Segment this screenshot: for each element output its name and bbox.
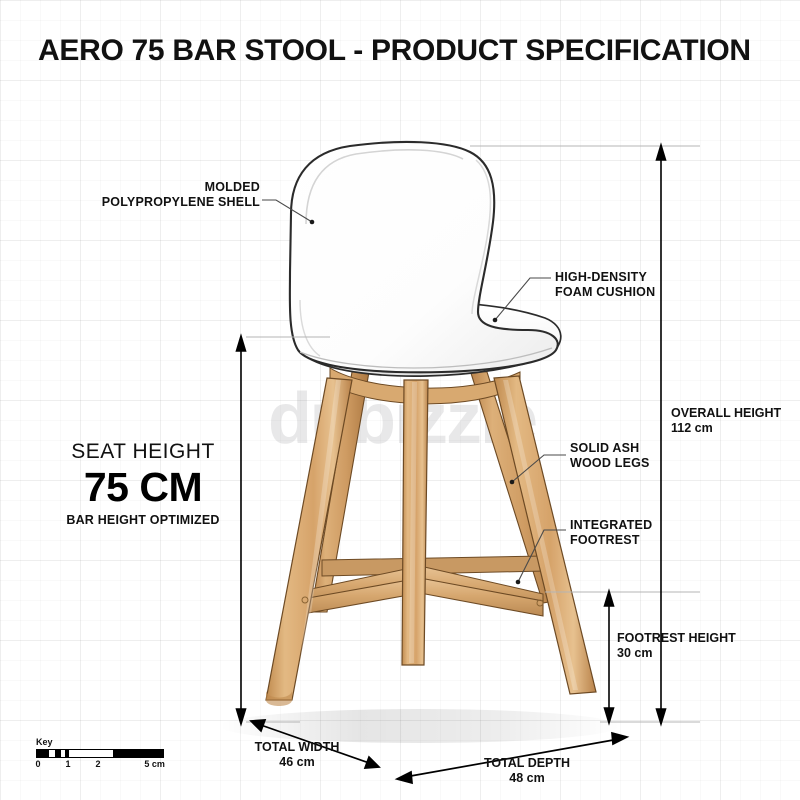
dimension-footrest-height-label: FOOTREST HEIGHT (617, 631, 736, 646)
dimension-total-depth: TOTAL DEPTH 48 cm (457, 756, 597, 786)
scale-key-ticks: 0 1 2 5 cm (36, 759, 164, 771)
scale-seg-1 (37, 750, 49, 757)
annotation-footrest-line2: FOOTREST (570, 533, 652, 548)
annotation-molded-shell-line1: MOLDED (30, 180, 260, 195)
annotation-molded-shell-line2: POLYPROPYLENE SHELL (30, 195, 260, 210)
scale-key-bar (36, 749, 164, 758)
annotation-foam-cushion-line1: HIGH-DENSITY (555, 270, 655, 285)
scale-key: Key 0 1 2 5 cm (36, 737, 170, 771)
annotation-ash-legs: SOLID ASH WOOD LEGS (570, 441, 650, 470)
seat-height-subtitle: BAR HEIGHT OPTIMIZED (48, 512, 238, 528)
dimension-overall-height: OVERALL HEIGHT 112 cm (671, 406, 781, 436)
scale-key-label: Key (36, 737, 170, 747)
annotation-footrest-line1: INTEGRATED (570, 518, 652, 533)
dimension-total-width-label: TOTAL WIDTH (232, 740, 362, 755)
dimension-total-depth-label: TOTAL DEPTH (457, 756, 597, 771)
annotation-foam-cushion-line2: FOAM CUSHION (555, 285, 655, 300)
annotation-ash-legs-line1: SOLID ASH (570, 441, 650, 456)
scale-tick-1: 1 (65, 759, 70, 769)
annotation-molded-shell: MOLDED POLYPROPYLENE SHELL (30, 180, 260, 209)
dimension-total-width: TOTAL WIDTH 46 cm (232, 740, 362, 770)
dimension-overall-height-label: OVERALL HEIGHT (671, 406, 781, 421)
spec-sheet: AERO 75 BAR STOOL - PRODUCT SPECIFICATIO… (0, 0, 800, 800)
dimension-total-depth-value: 48 cm (457, 771, 597, 786)
seat-height-callout: SEAT HEIGHT 75 CM BAR HEIGHT OPTIMIZED (48, 440, 238, 528)
scale-seg-8 (113, 750, 163, 757)
dimension-footrest-height-value: 30 cm (617, 646, 736, 661)
stool-illustration (0, 0, 800, 800)
scale-tick-0: 0 (35, 759, 40, 769)
seat-height-value: 75 CM (48, 465, 238, 509)
annotation-footrest: INTEGRATED FOOTREST (570, 518, 652, 547)
dimension-total-width-value: 46 cm (232, 755, 362, 770)
seat-height-title: SEAT HEIGHT (48, 440, 238, 464)
dimension-overall-height-value: 112 cm (671, 421, 781, 436)
dimension-footrest-height: FOOTREST HEIGHT 30 cm (617, 631, 736, 661)
annotation-ash-legs-line2: WOOD LEGS (570, 456, 650, 471)
scale-tick-2: 2 (95, 759, 100, 769)
scale-tick-5: 5 cm (144, 759, 165, 769)
annotation-foam-cushion: HIGH-DENSITY FOAM CUSHION (555, 270, 655, 299)
scale-seg-7 (75, 750, 113, 757)
